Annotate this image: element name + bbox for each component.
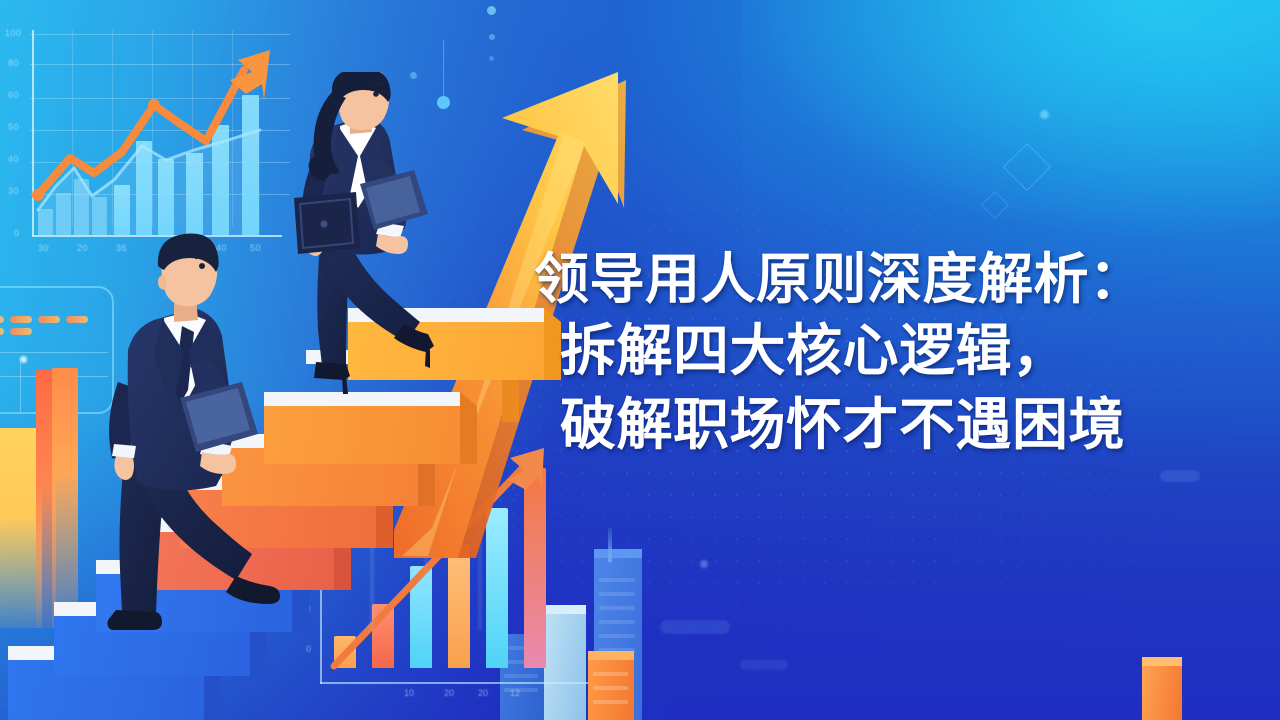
- legend-chip: [38, 316, 60, 323]
- skyline-building: [1142, 664, 1182, 720]
- title-line-3: 破解职场怀才不遇困境: [534, 388, 1246, 462]
- area-fill: [38, 130, 260, 235]
- glow-blob: [1040, 110, 1049, 119]
- shoe-front: [226, 576, 280, 604]
- title-line-2: 拆解四大核心逻辑，: [534, 314, 1246, 388]
- card-divider: [20, 358, 21, 412]
- glow-blob: [740, 660, 788, 670]
- glow-blob: [700, 560, 708, 568]
- legend-chip: [0, 328, 4, 335]
- title-line-1: 领导用人原则深度解析：: [534, 244, 1246, 314]
- left-chart-bar: [52, 368, 78, 628]
- card-node-dot: [20, 356, 27, 363]
- trend-point: [148, 99, 160, 111]
- hand-hip: [114, 456, 134, 480]
- poster-canvas: 100 80 60 50 40 30 0 30 20 36 40 50: [0, 0, 1280, 720]
- title-block: 领导用人原则深度解析： 拆解四大核心逻辑， 破解职场怀才不遇困境: [534, 244, 1246, 462]
- heel-spike-back: [342, 376, 348, 394]
- legend-chip: [10, 316, 32, 323]
- ear: [158, 276, 166, 290]
- legend-chip: [10, 328, 32, 335]
- figure-businesswoman: [276, 72, 476, 402]
- legend-chip: [66, 316, 88, 323]
- cuff: [112, 444, 136, 458]
- eye: [199, 263, 205, 269]
- glow-blob: [660, 620, 730, 634]
- trend-point: [32, 189, 44, 201]
- portfolio-clasp: [321, 221, 328, 228]
- eye: [373, 91, 379, 97]
- glow-blob: [1160, 470, 1200, 482]
- shoe-back: [108, 610, 163, 630]
- legend-chip: [0, 316, 4, 323]
